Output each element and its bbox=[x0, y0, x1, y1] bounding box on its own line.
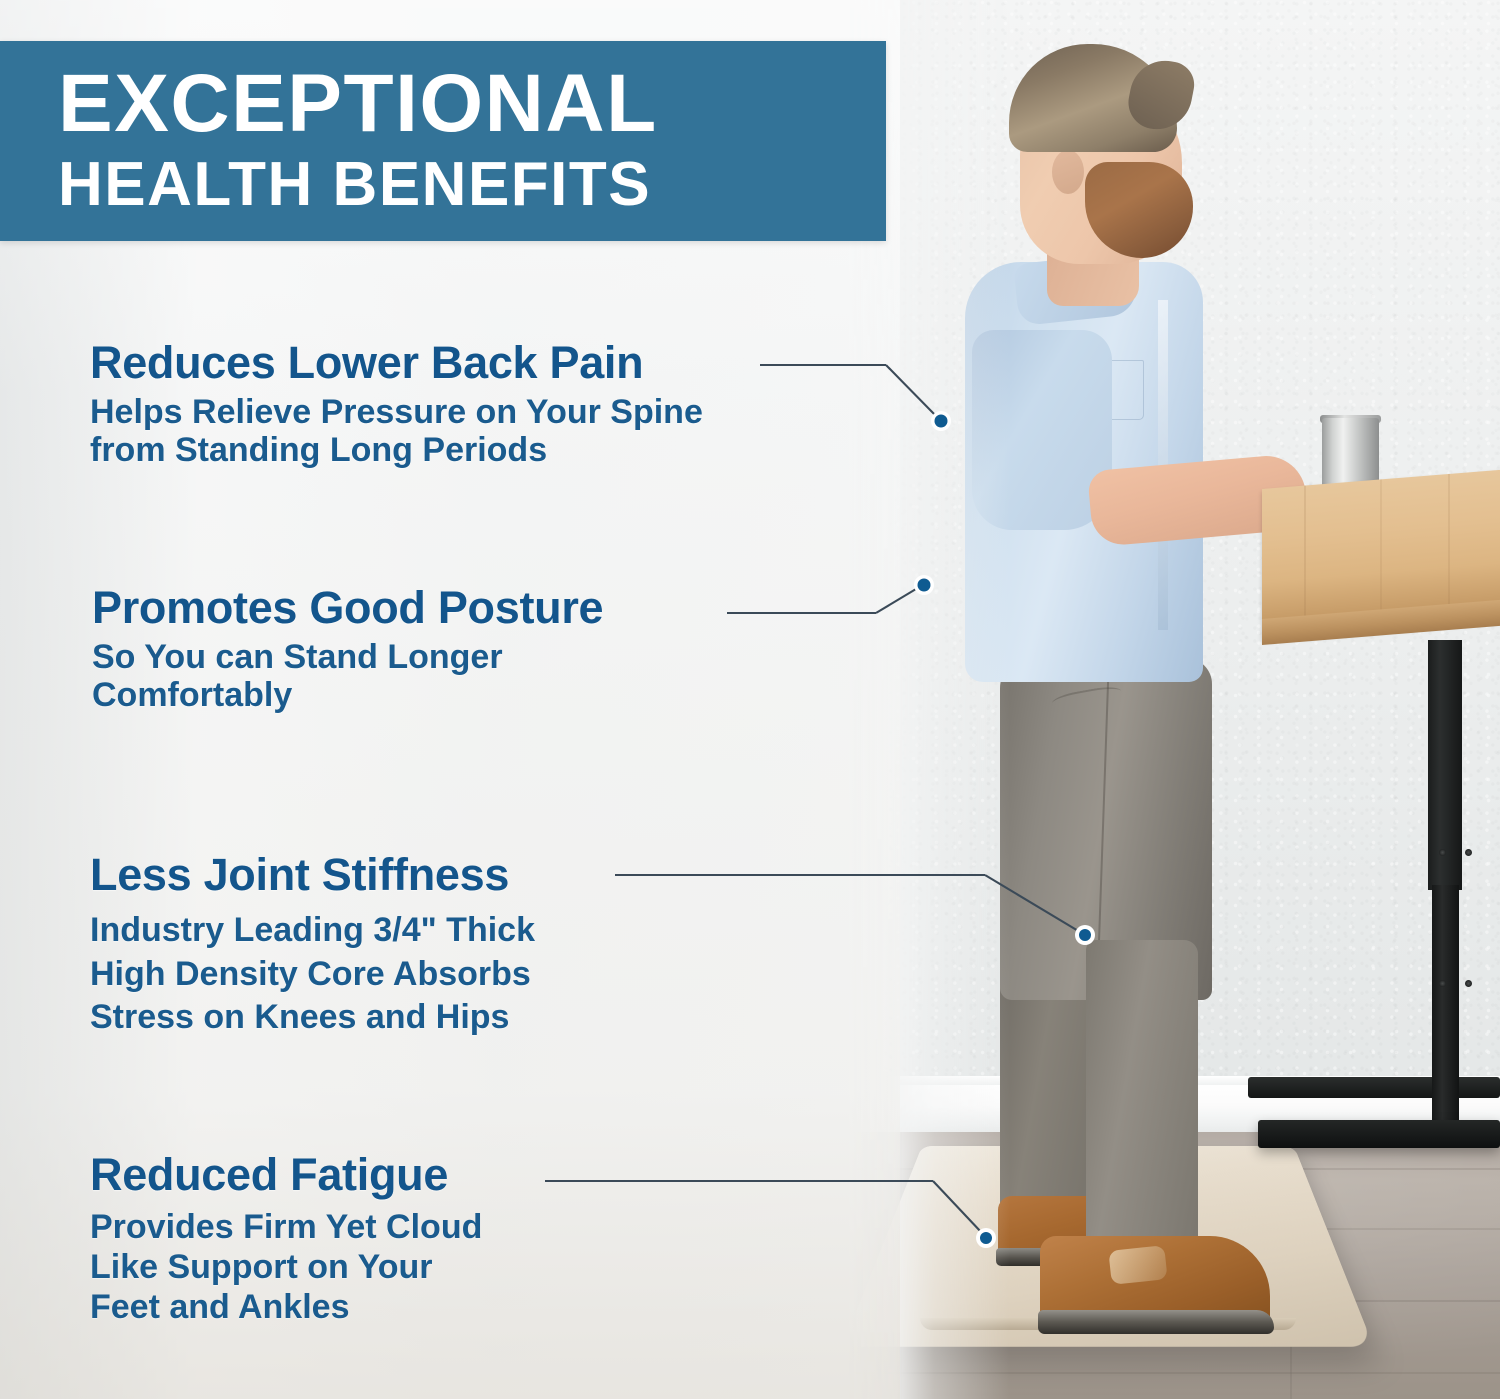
benefit-body-4: Provides Firm Yet Cloud Like Support on … bbox=[90, 1207, 482, 1327]
benefit-body-4-line-2: Like Support on Your bbox=[90, 1247, 482, 1287]
benefit-block-1: Reduces Lower Back Pain Helps Relieve Pr… bbox=[90, 340, 703, 469]
benefit-block-2: Promotes Good Posture So You can Stand L… bbox=[92, 585, 603, 714]
benefit-title-1: Reduces Lower Back Pain bbox=[90, 340, 703, 385]
benefit-body-4-line-1: Provides Firm Yet Cloud bbox=[90, 1207, 482, 1247]
benefit-body-1-line-1: Helps Relieve Pressure on Your Spine bbox=[90, 393, 703, 431]
leader-line-1-angle bbox=[886, 365, 938, 418]
callout-dot-2 bbox=[918, 579, 931, 592]
benefit-body-3-line-2: High Density Core Absorbs bbox=[90, 953, 535, 997]
leader-line-3-angle bbox=[985, 875, 1080, 932]
benefit-block-4: Reduced Fatigue Provides Firm Yet Cloud … bbox=[90, 1152, 482, 1327]
benefit-body-3-line-1: Industry Leading 3/4" Thick bbox=[90, 909, 535, 953]
benefit-block-3: Less Joint Stiffness Industry Leading 3/… bbox=[90, 852, 535, 1040]
infographic-canvas: EXCEPTIONAL HEALTH BENEFITS Reduces Lowe… bbox=[0, 0, 1500, 1399]
benefit-body-2-line-1: So You can Stand Longer bbox=[92, 638, 603, 676]
leader-line-4-angle bbox=[933, 1181, 982, 1233]
callout-dot-1 bbox=[935, 415, 948, 428]
benefit-body-2-line-2: Comfortably bbox=[92, 676, 603, 714]
benefit-body-2: So You can Stand Longer Comfortably bbox=[92, 638, 603, 714]
benefit-body-4-line-3: Feet and Ankles bbox=[90, 1287, 482, 1327]
benefit-body-1: Helps Relieve Pressure on Your Spine fro… bbox=[90, 393, 703, 469]
benefit-title-3: Less Joint Stiffness bbox=[90, 852, 535, 897]
leader-line-2-angle bbox=[876, 589, 916, 613]
benefit-title-2: Promotes Good Posture bbox=[92, 585, 603, 630]
callout-dot-3 bbox=[1079, 929, 1091, 941]
benefit-body-1-line-2: from Standing Long Periods bbox=[90, 431, 703, 469]
callout-dot-4 bbox=[980, 1232, 992, 1244]
benefit-title-4: Reduced Fatigue bbox=[90, 1152, 482, 1197]
benefit-body-3-line-3: Stress on Knees and Hips bbox=[90, 996, 535, 1040]
benefit-body-3: Industry Leading 3/4" Thick High Density… bbox=[90, 909, 535, 1040]
